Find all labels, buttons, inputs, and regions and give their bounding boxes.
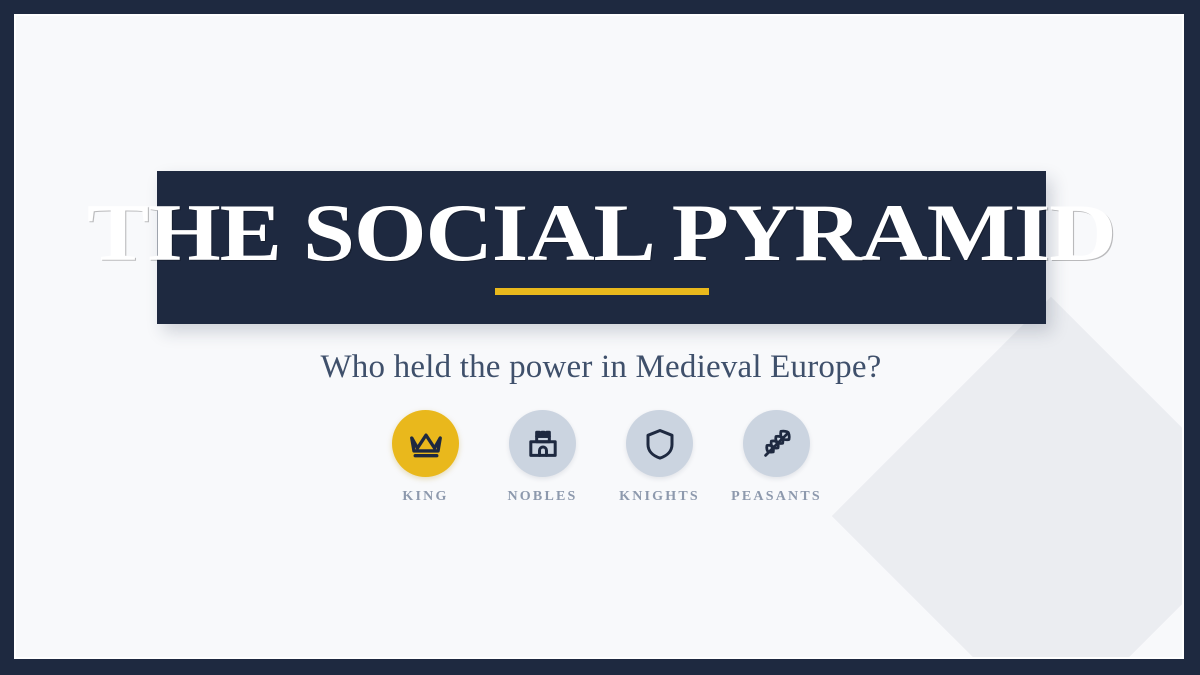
hierarchy-item-peasants[interactable]: PEASANTS xyxy=(718,410,835,505)
title-underline-accent xyxy=(495,288,709,295)
wheat-icon xyxy=(759,426,795,462)
title-banner: THE SOCIAL PYRAMID xyxy=(157,171,1046,324)
slide-outer-frame: THE SOCIAL PYRAMID Who held the power in… xyxy=(0,0,1200,675)
knights-icon-badge xyxy=(626,410,693,477)
peasants-icon-badge xyxy=(743,410,810,477)
king-icon-badge xyxy=(392,410,459,477)
hierarchy-item-knights[interactable]: KNIGHTS xyxy=(601,410,718,505)
crown-icon xyxy=(407,425,445,463)
hierarchy-label-peasants: PEASANTS xyxy=(731,489,822,505)
hierarchy-label-king: KING xyxy=(402,489,448,505)
nobles-icon-badge xyxy=(509,410,576,477)
hierarchy-item-nobles[interactable]: NOBLES xyxy=(484,410,601,505)
slide-content: THE SOCIAL PYRAMID Who held the power in… xyxy=(16,16,1182,657)
hierarchy-label-nobles: NOBLES xyxy=(508,489,578,505)
subtitle-question: Who held the power in Medieval Europe? xyxy=(16,349,1184,386)
shield-icon xyxy=(642,426,678,462)
hierarchy-item-king[interactable]: KING xyxy=(367,410,484,505)
slide-canvas: THE SOCIAL PYRAMID Who held the power in… xyxy=(14,14,1184,659)
hierarchy-label-knights: KNIGHTS xyxy=(619,489,700,505)
hierarchy-icon-row: KING NOBLES xyxy=(16,410,1184,505)
castle-icon xyxy=(524,425,562,463)
page-title: THE SOCIAL PYRAMID xyxy=(87,194,1116,273)
